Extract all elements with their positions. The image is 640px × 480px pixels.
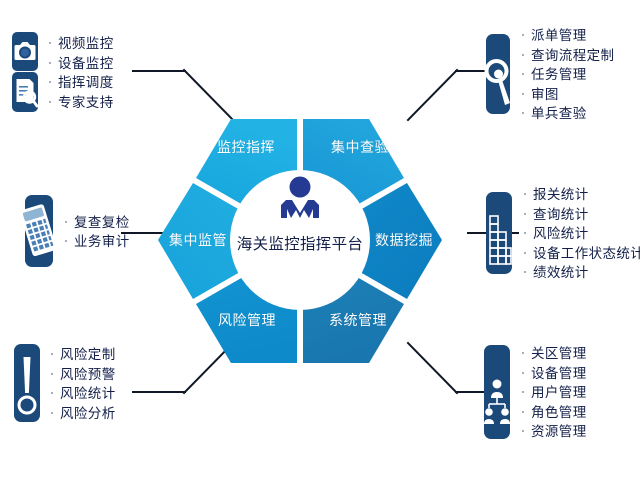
item-label: 设备监控 [58, 55, 114, 75]
item-label: 复查复检 [74, 214, 130, 234]
list-item[interactable]: 专家支持 [49, 94, 114, 114]
list-item[interactable]: 业务审计 [65, 233, 130, 253]
bullet-dot [49, 81, 51, 83]
item-label: 任务管理 [531, 66, 587, 86]
bullet-dot [524, 271, 526, 273]
bullet-dot [49, 42, 51, 44]
bullet-dot [524, 213, 526, 215]
group-data-mining: 报关统计 查询统计 风险统计 设备工作状态统计 绩效统计 [483, 186, 640, 284]
camera-and-document-search-icon [10, 31, 40, 117]
bullet-dot [51, 392, 53, 394]
list-item[interactable]: 指挥调度 [49, 74, 114, 94]
item-label: 用户管理 [531, 384, 587, 404]
item-label: 报关统计 [533, 186, 589, 206]
list-item[interactable]: 风险分析 [51, 405, 116, 425]
item-label: 查询统计 [533, 206, 589, 226]
bullet-dot [522, 372, 524, 374]
segment-label-central-inspect[interactable]: 集中查验 [331, 137, 389, 157]
list-item[interactable]: 用户管理 [522, 384, 587, 404]
group-monitor-command: 视频监控 设备监控 指挥调度 专家支持 [10, 31, 114, 117]
group-risk-management-list: 风险定制 风险预警 风险统计 风险分析 [51, 346, 116, 424]
list-item[interactable]: 查询流程定制 [522, 47, 614, 67]
list-item[interactable]: 设备监控 [49, 55, 114, 75]
bullet-dot [51, 373, 53, 375]
bullet-dot [522, 391, 524, 393]
bullet-dot [65, 240, 67, 242]
list-item[interactable]: 设备工作状态统计 [524, 245, 640, 265]
platform-title: 海关监控指挥平台 [237, 232, 363, 254]
item-label: 关区管理 [531, 345, 587, 365]
bullet-dot [524, 252, 526, 254]
bullet-dot [522, 54, 524, 56]
bullet-dot [522, 112, 524, 114]
list-item[interactable]: 查询统计 [524, 206, 640, 226]
item-label: 设备工作状态统计 [533, 245, 640, 265]
bullet-dot [524, 232, 526, 234]
list-item[interactable]: 派单管理 [522, 27, 614, 47]
bullet-dot [49, 62, 51, 64]
item-label: 专家支持 [58, 94, 114, 114]
bullet-dot [522, 352, 524, 354]
list-item[interactable]: 角色管理 [522, 404, 587, 424]
list-item[interactable]: 任务管理 [522, 66, 614, 86]
list-item[interactable]: 资源管理 [522, 423, 587, 443]
diagram-canvas: 监控指挥 集中查验 集中监管 数据挖掘 风险管理 系统管理 海关监控指挥平台 [0, 0, 640, 480]
list-item[interactable]: 报关统计 [524, 186, 640, 206]
item-label: 查询流程定制 [531, 47, 614, 67]
item-label: 单兵查验 [531, 105, 587, 125]
bullet-dot [522, 73, 524, 75]
item-label: 风险统计 [533, 225, 589, 245]
bar-chart-icon [483, 191, 515, 279]
bullet-dot [522, 93, 524, 95]
group-central-inspect: 派单管理 查询流程定制 任务管理 审图 单兵查验 [483, 27, 614, 125]
bullet-dot [49, 101, 51, 103]
item-label: 业务审计 [74, 233, 130, 253]
item-label: 派单管理 [531, 27, 587, 47]
item-label: 指挥调度 [58, 74, 114, 94]
item-label: 风险分析 [60, 405, 116, 425]
list-item[interactable]: 关区管理 [522, 345, 587, 365]
bullet-dot [522, 34, 524, 36]
item-label: 风险定制 [60, 346, 116, 366]
item-label: 设备管理 [531, 365, 587, 385]
magnifier-person-icon [483, 33, 513, 119]
item-label: 资源管理 [531, 423, 587, 443]
bullet-dot [65, 221, 67, 223]
list-item[interactable]: 审图 [522, 86, 614, 106]
group-central-supervise: 复查复检 业务审计 [22, 194, 130, 272]
list-item[interactable]: 单兵查验 [522, 105, 614, 125]
segment-label-central-supervise[interactable]: 集中监管 [169, 230, 227, 250]
item-label: 绩效统计 [533, 264, 589, 284]
list-item[interactable]: 设备管理 [522, 365, 587, 385]
segment-label-data-mining[interactable]: 数据挖掘 [375, 230, 433, 250]
list-item[interactable]: 风险统计 [51, 385, 116, 405]
group-monitor-command-list: 视频监控 设备监控 指挥调度 专家支持 [49, 35, 114, 113]
list-item[interactable]: 复查复检 [65, 214, 130, 234]
group-data-mining-list: 报关统计 查询统计 风险统计 设备工作状态统计 绩效统计 [524, 186, 640, 284]
org-chart-icon [481, 344, 513, 444]
bullet-dot [524, 193, 526, 195]
segment-label-risk-management[interactable]: 风险管理 [218, 310, 276, 330]
item-label: 审图 [531, 86, 559, 106]
item-label: 视频监控 [58, 35, 114, 55]
item-label: 风险预警 [60, 366, 116, 386]
list-item[interactable]: 风险定制 [51, 346, 116, 366]
bullet-dot [51, 353, 53, 355]
item-label: 风险统计 [60, 385, 116, 405]
segment-label-system-management[interactable]: 系统管理 [329, 310, 387, 330]
list-item[interactable]: 视频监控 [49, 35, 114, 55]
bullet-dot [51, 412, 53, 414]
bullet-dot [522, 430, 524, 432]
segment-label-monitor-command[interactable]: 监控指挥 [217, 137, 275, 157]
group-central-inspect-list: 派单管理 查询流程定制 任务管理 审图 单兵查验 [522, 27, 614, 125]
group-system-management: 关区管理 设备管理 用户管理 角色管理 资源管理 [481, 344, 587, 444]
group-risk-management: 风险定制 风险预警 风险统计 风险分析 [12, 343, 116, 427]
group-system-management-list: 关区管理 设备管理 用户管理 角色管理 资源管理 [522, 345, 587, 443]
list-item[interactable]: 风险统计 [524, 225, 640, 245]
list-item[interactable]: 绩效统计 [524, 264, 640, 284]
item-label: 角色管理 [531, 404, 587, 424]
group-central-supervise-list: 复查复检 业务审计 [65, 214, 130, 253]
calculator-icon [22, 194, 56, 272]
list-item[interactable]: 风险预警 [51, 366, 116, 386]
exclamation-mark-icon [12, 343, 42, 427]
bullet-dot [522, 411, 524, 413]
